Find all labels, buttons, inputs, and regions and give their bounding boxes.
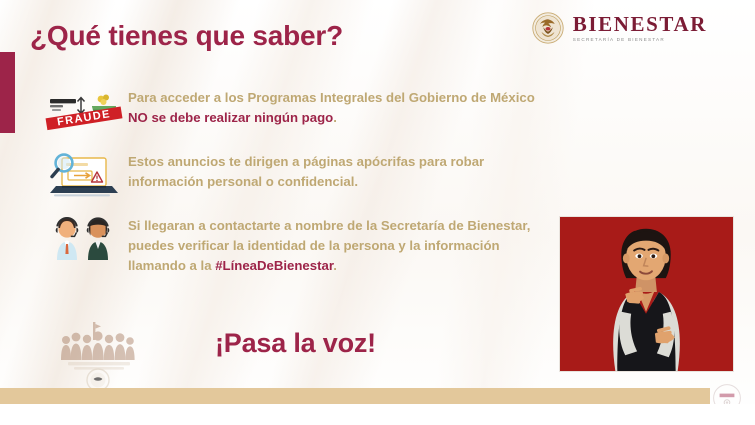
brand-name: BIENESTAR xyxy=(573,14,707,35)
bullet-text: Estos anuncios te dirigen a páginas apóc… xyxy=(128,150,554,192)
bottom-tan-bar xyxy=(0,388,710,404)
mexican-coat-of-arms-icon xyxy=(532,12,564,44)
brand-lockup: BIENESTAR SECRETARÍA DE BIENESTAR xyxy=(532,12,707,44)
call-center-agents-icon xyxy=(44,216,128,264)
historical-figures-watermark-icon xyxy=(52,318,148,396)
page-title: ¿Qué tienes que saber? xyxy=(30,20,343,52)
brand-subtitle: SECRETARÍA DE BIENESTAR xyxy=(573,38,707,43)
sign-language-interpreter-video[interactable] xyxy=(559,216,734,372)
bullet-list: FRAUDE Para acceder a los Programas Inte… xyxy=(44,86,554,290)
bullet-item: Estos anuncios te dirigen a páginas apóc… xyxy=(44,150,554,200)
bottom-white-strip xyxy=(0,404,755,425)
bullet-text-tail: . xyxy=(333,258,337,273)
bullet-text: Si llegaran a contactarte a nombre de la… xyxy=(128,214,554,276)
fraude-stamp-icon: FRAUDE xyxy=(44,88,128,136)
bullet-text-lead: Para acceder a los Programas Integrales … xyxy=(128,90,535,105)
bullet-text-lead: Estos anuncios te dirigen a páginas apóc… xyxy=(128,154,484,189)
bullet-text: Para acceder a los Programas Integrales … xyxy=(128,86,554,128)
call-to-action-text: ¡Pasa la voz! xyxy=(215,328,376,359)
laptop-phishing-icon xyxy=(44,152,128,200)
svg-text:FRAUDE: FRAUDE xyxy=(56,108,111,128)
bullet-text-emphasis: #LíneaDeBienestar xyxy=(215,258,333,273)
bullet-text-tail: . xyxy=(333,110,337,125)
slide-canvas: ¿Qué tienes que saber? BIENESTAR SECRETA… xyxy=(0,0,755,425)
bullet-text-emphasis: NO se debe realizar ningún pago xyxy=(128,110,333,125)
bullet-item: Si llegaran a contactarte a nombre de la… xyxy=(44,214,554,276)
left-accent-bar xyxy=(0,52,15,133)
bullet-item: FRAUDE Para acceder a los Programas Inte… xyxy=(44,86,554,136)
